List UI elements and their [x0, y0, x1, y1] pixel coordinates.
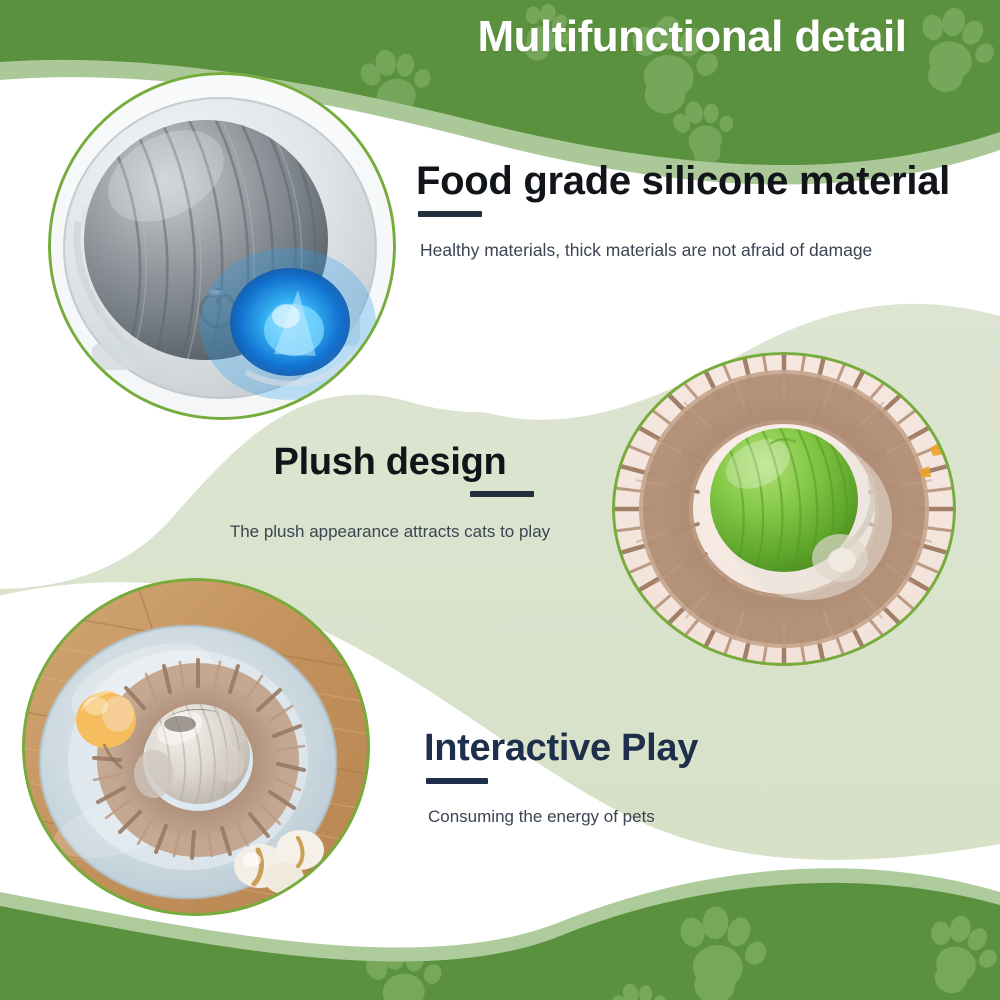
infographic-canvas: Multifunctional detail Food grade silico… — [0, 0, 1000, 1000]
photo-interactive-play — [22, 578, 370, 916]
page-title: Multifunctional detail — [402, 12, 982, 62]
feature-subtext-plush-design: The plush appearance attracts cats to pl… — [200, 521, 580, 544]
feature-heading-food-grade: Food grade silicone material — [416, 160, 950, 202]
grey-silicone-ball-photo — [48, 72, 396, 420]
playmat-scene-photo — [22, 578, 370, 916]
accent-bar-food-grade — [418, 211, 482, 217]
feature-heading-plush-design: Plush design — [200, 443, 580, 483]
photo-plush-design — [612, 352, 956, 666]
green-ball-plush-ring-photo — [612, 352, 956, 666]
feature-heading-interactive-play: Interactive Play — [424, 729, 698, 769]
accent-bar-interactive-play — [426, 778, 488, 784]
feature-block-food-grade: Food grade silicone material Healthy mat… — [416, 160, 950, 263]
feature-subtext-food-grade: Healthy materials, thick materials are n… — [420, 239, 950, 263]
feature-subtext-interactive-play: Consuming the energy of pets — [428, 806, 698, 829]
photo-food-grade — [48, 72, 396, 420]
accent-bar-plush-design — [470, 491, 534, 497]
feature-block-interactive-play: Interactive Play Consuming the energy of… — [424, 729, 698, 829]
feature-block-plush-design: Plush design The plush appearance attrac… — [200, 443, 580, 544]
